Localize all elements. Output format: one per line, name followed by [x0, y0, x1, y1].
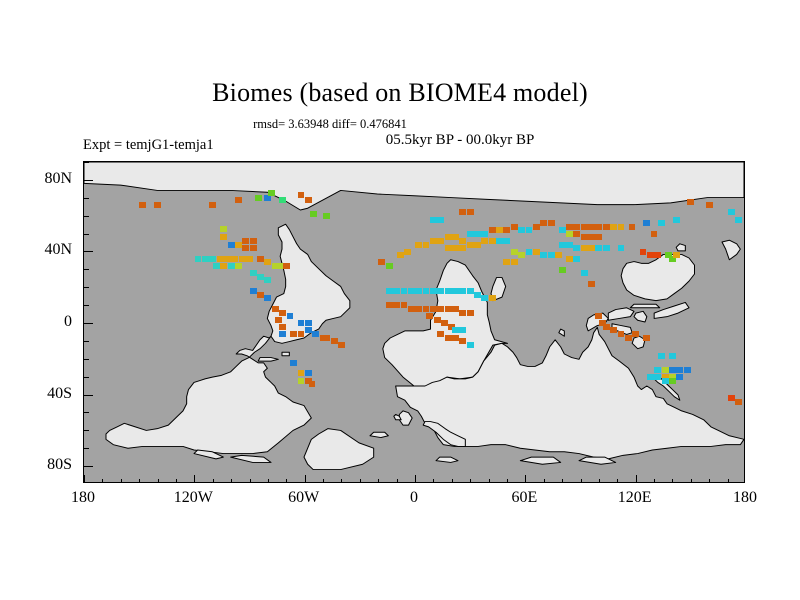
- biome-cell: [220, 263, 227, 269]
- biome-cell: [415, 288, 422, 294]
- biome-cell: [305, 320, 312, 326]
- biome-cell: [658, 353, 665, 359]
- biome-cell: [312, 331, 319, 337]
- x-tick: [544, 479, 545, 483]
- x-tick: [525, 475, 526, 483]
- y-tick: [84, 251, 93, 252]
- biome-cell: [305, 327, 312, 333]
- biome-cell: [423, 288, 430, 294]
- y-tick-label: 0: [0, 313, 72, 331]
- biome-cell: [566, 242, 573, 248]
- x-tick: [194, 475, 195, 483]
- biome-cell: [452, 288, 459, 294]
- biome-cell: [264, 277, 271, 283]
- x-tick: [709, 479, 710, 483]
- biome-cell: [397, 252, 404, 258]
- biome-cell: [298, 370, 305, 376]
- page-title: Biomes (based on BIOME4 model): [0, 78, 800, 108]
- biome-cell: [496, 227, 503, 233]
- biome-cell: [213, 263, 220, 269]
- y-tick: [84, 448, 89, 449]
- biome-cell: [467, 231, 474, 237]
- x-tick: [231, 479, 232, 483]
- period-annotation: 05.5kyr BP - 00.0kyr BP: [240, 132, 680, 149]
- biome-cell: [338, 342, 345, 348]
- biome-cell: [526, 249, 533, 255]
- x-tick: [489, 479, 490, 483]
- biome-cell: [573, 245, 580, 251]
- biome-cell: [603, 324, 610, 330]
- biome-cell: [511, 259, 518, 265]
- biome-cell: [305, 197, 312, 203]
- biome-cell: [437, 217, 444, 223]
- biome-cell: [654, 374, 661, 380]
- biome-cell: [290, 360, 297, 366]
- biome-cell: [467, 310, 474, 316]
- biome-cell: [268, 190, 275, 196]
- biome-cell: [474, 231, 481, 237]
- biome-cell: [445, 245, 452, 251]
- biome-cell: [503, 259, 510, 265]
- biome-cell: [511, 249, 518, 255]
- biome-cell: [673, 217, 680, 223]
- biome-cell: [706, 202, 713, 208]
- biome-cell: [481, 238, 488, 244]
- biome-cell: [452, 306, 459, 312]
- biome-cell: [658, 220, 665, 226]
- biome-cell: [401, 288, 408, 294]
- biome-cell: [654, 367, 661, 373]
- biome-cell: [430, 306, 437, 312]
- biome-cell: [209, 256, 216, 262]
- biome-cell: [573, 231, 580, 237]
- biome-cell: [250, 288, 257, 294]
- y-tick: [84, 412, 89, 413]
- biome-cell: [437, 238, 444, 244]
- biome-cell: [533, 249, 540, 255]
- biome-cell: [279, 331, 286, 337]
- biome-cell: [287, 313, 294, 319]
- biome-cell: [309, 381, 316, 387]
- biome-cell: [474, 242, 481, 248]
- y-tick: [84, 198, 89, 199]
- biome-cell: [566, 231, 573, 237]
- biome-cell: [220, 226, 227, 232]
- biome-cell: [235, 263, 242, 269]
- biome-cell: [423, 306, 430, 312]
- biome-cell: [445, 288, 452, 294]
- x-tick: [121, 479, 122, 483]
- x-tick-label: 60W: [288, 489, 319, 507]
- biome-cell: [481, 295, 488, 301]
- biome-cell: [220, 234, 227, 240]
- biome-cell: [588, 234, 595, 240]
- biome-cell: [625, 335, 632, 341]
- biome-cell: [489, 238, 496, 244]
- biome-cell: [310, 211, 317, 217]
- biome-cell: [408, 306, 415, 312]
- biome-cell: [235, 242, 242, 248]
- biome-cell: [378, 259, 385, 265]
- biome-cell: [228, 242, 235, 248]
- biome-cell: [581, 270, 588, 276]
- x-tick: [636, 475, 637, 483]
- experiment-annotation: Expt = temjG1-temja1: [83, 137, 214, 154]
- biome-cell: [540, 252, 547, 258]
- y-tick: [84, 162, 89, 163]
- biome-cell: [290, 331, 297, 337]
- biome-cell: [386, 263, 393, 269]
- x-tick: [415, 475, 416, 483]
- y-tick: [84, 287, 89, 288]
- biome-cell: [503, 227, 510, 233]
- biome-cell: [459, 288, 466, 294]
- x-tick-label: 180: [71, 489, 95, 507]
- biome-cell: [257, 274, 264, 280]
- biome-cell: [603, 224, 610, 230]
- x-tick: [672, 479, 673, 483]
- biome-cell: [430, 238, 437, 244]
- biome-cell: [559, 267, 566, 273]
- biome-cell: [217, 256, 224, 262]
- x-tick: [691, 479, 692, 483]
- biome-cell: [437, 288, 444, 294]
- x-tick-label: 120W: [174, 489, 213, 507]
- biome-cell: [595, 224, 602, 230]
- x-tick: [323, 479, 324, 483]
- biome-cell: [239, 256, 246, 262]
- biome-cell: [279, 324, 286, 330]
- biome-cell: [459, 245, 466, 251]
- biome-cell: [279, 310, 286, 316]
- biome-cell: [242, 245, 249, 251]
- biome-cell: [298, 192, 305, 198]
- x-tick: [378, 479, 379, 483]
- x-tick: [360, 479, 361, 483]
- biome-cell: [250, 270, 257, 276]
- x-tick: [581, 479, 582, 483]
- biome-cell: [632, 331, 639, 337]
- biome-cell: [467, 209, 474, 215]
- biome-cell: [452, 234, 459, 240]
- biome-cell: [647, 252, 654, 258]
- biome-cell: [651, 231, 658, 237]
- biome-cell: [573, 256, 580, 262]
- biome-cell: [445, 306, 452, 312]
- biome-cell: [735, 217, 742, 223]
- biome-cell: [573, 224, 580, 230]
- biome-cell: [489, 227, 496, 233]
- biome-cell: [533, 224, 540, 230]
- biome-cell: [283, 263, 290, 269]
- y-tick: [84, 269, 89, 270]
- x-tick: [452, 479, 453, 483]
- y-tick: [84, 395, 93, 396]
- x-tick: [213, 479, 214, 483]
- biome-cell: [298, 331, 305, 337]
- x-tick-label: 120E: [618, 489, 652, 507]
- biome-cell: [264, 195, 271, 201]
- biome-cell: [452, 327, 459, 333]
- biome-cell: [684, 367, 691, 373]
- biome-cell: [275, 317, 282, 323]
- biome-cell: [629, 224, 636, 230]
- biome-cell: [518, 252, 525, 258]
- biome-cell: [588, 245, 595, 251]
- x-tick: [139, 479, 140, 483]
- biome-cell: [518, 227, 525, 233]
- stats-annotation: rmsd= 3.63948 diff= 0.476841: [0, 117, 660, 132]
- biome-cell: [255, 195, 262, 201]
- biome-cell: [467, 288, 474, 294]
- x-tick: [562, 479, 563, 483]
- biome-cell: [430, 288, 437, 294]
- y-tick: [84, 180, 93, 181]
- biome-cell: [441, 320, 448, 326]
- biome-cell: [445, 234, 452, 240]
- y-tick: [84, 234, 89, 235]
- biome-cell: [669, 367, 676, 373]
- y-tick: [84, 341, 89, 342]
- biome-cell: [467, 242, 474, 248]
- biome-cell: [559, 242, 566, 248]
- biome-cell: [298, 320, 305, 326]
- x-tick-label: 0: [410, 489, 418, 507]
- x-tick-label: 60E: [511, 489, 537, 507]
- biome-cell: [511, 224, 518, 230]
- biome-cell: [728, 209, 735, 215]
- biome-cell: [445, 335, 452, 341]
- biome-cell: [386, 288, 393, 294]
- map-plot-area[interactable]: [83, 161, 745, 483]
- biome-cell: [459, 338, 466, 344]
- biome-cell: [526, 227, 533, 233]
- biome-cell: [595, 234, 602, 240]
- y-tick-label: 80S: [0, 456, 72, 474]
- biome-cell: [298, 378, 305, 384]
- biome-cell: [588, 281, 595, 287]
- biome-cell: [555, 252, 562, 258]
- x-tick: [286, 479, 287, 483]
- biome-cell: [459, 209, 466, 215]
- biome-cell: [434, 317, 441, 323]
- biome-cell: [676, 374, 683, 380]
- biome-cell: [647, 374, 654, 380]
- biome-cell: [481, 231, 488, 237]
- x-tick: [728, 479, 729, 483]
- biome-cell: [687, 199, 694, 205]
- biome-cell: [250, 245, 257, 251]
- y-tick: [84, 377, 89, 378]
- y-tick: [84, 216, 89, 217]
- biome-cell: [673, 252, 680, 258]
- biome-cell: [588, 224, 595, 230]
- biome-cell: [618, 224, 625, 230]
- x-tick-label: 180: [733, 489, 757, 507]
- biome-cell: [323, 213, 330, 219]
- biome-cell: [209, 202, 216, 208]
- x-tick: [470, 479, 471, 483]
- x-tick: [176, 479, 177, 483]
- x-tick: [305, 475, 306, 483]
- biome-cell: [386, 302, 393, 308]
- biome-cell: [264, 259, 271, 265]
- biome-cell: [618, 331, 625, 337]
- y-tick-label: 40N: [0, 241, 72, 259]
- biome-cell: [459, 327, 466, 333]
- biome-cell: [459, 310, 466, 316]
- biome-cell: [595, 313, 602, 319]
- biome-cell: [474, 292, 481, 298]
- y-tick-label: 40S: [0, 385, 72, 403]
- biome-cell: [559, 227, 566, 233]
- biome-cell: [195, 256, 202, 262]
- biome-cell: [231, 256, 238, 262]
- x-tick: [250, 479, 251, 483]
- biome-cell: [408, 288, 415, 294]
- biome-cell: [404, 249, 411, 255]
- biome-cell: [566, 224, 573, 230]
- y-tick: [84, 323, 93, 324]
- biome-cell: [467, 342, 474, 348]
- biome-cell: [224, 256, 231, 262]
- biome-cell: [272, 263, 279, 269]
- biome-cell: [437, 306, 444, 312]
- biome-cell: [489, 295, 496, 301]
- x-tick: [397, 479, 398, 483]
- biome-cell: [603, 245, 610, 251]
- biome-cell: [566, 256, 573, 262]
- biome-cell: [426, 313, 433, 319]
- biome-cell: [139, 202, 146, 208]
- biome-cell: [548, 220, 555, 226]
- y-tick: [84, 466, 93, 467]
- x-tick: [158, 479, 159, 483]
- figure-canvas: Biomes (based on BIOME4 model) rmsd= 3.6…: [0, 0, 800, 600]
- biome-cell: [669, 353, 676, 359]
- biome-cell: [595, 245, 602, 251]
- biome-cell: [264, 295, 271, 301]
- biome-cell: [548, 252, 555, 258]
- x-tick: [268, 479, 269, 483]
- y-tick: [84, 305, 89, 306]
- biome-cell: [581, 245, 588, 251]
- biome-cell: [640, 249, 647, 255]
- biome-cell: [437, 331, 444, 337]
- biome-cell: [279, 197, 286, 203]
- x-tick: [617, 479, 618, 483]
- y-tick-label: 80N: [0, 170, 72, 188]
- biome-cell: [257, 292, 264, 298]
- biome-cell: [610, 224, 617, 230]
- y-tick: [84, 430, 89, 431]
- biome-cell: [202, 256, 209, 262]
- biome-cell: [415, 242, 422, 248]
- y-tick: [84, 359, 89, 360]
- biome-cell: [423, 242, 430, 248]
- x-tick: [84, 475, 85, 483]
- biome-cell: [581, 234, 588, 240]
- biome-cell: [540, 220, 547, 226]
- biome-cell: [496, 238, 503, 244]
- x-tick: [599, 479, 600, 483]
- biome-cell: [503, 238, 510, 244]
- biome-cell: [643, 220, 650, 226]
- biome-cell: [728, 395, 735, 401]
- x-tick: [102, 479, 103, 483]
- biome-difference-cells: [84, 162, 744, 482]
- biome-cell: [610, 327, 617, 333]
- biome-cell: [662, 378, 669, 384]
- biome-cell: [662, 367, 669, 373]
- x-tick: [654, 479, 655, 483]
- biome-cell: [154, 202, 161, 208]
- biome-cell: [242, 238, 249, 244]
- biome-cell: [452, 245, 459, 251]
- biome-cell: [272, 306, 279, 312]
- biome-cell: [228, 263, 235, 269]
- x-tick: [433, 479, 434, 483]
- biome-cell: [643, 335, 650, 341]
- biome-cell: [676, 367, 683, 373]
- biome-cell: [250, 238, 257, 244]
- map-stage: [84, 162, 744, 482]
- biome-cell: [735, 399, 742, 405]
- x-tick: [507, 479, 508, 483]
- biome-cell: [415, 306, 422, 312]
- biome-cell: [430, 217, 437, 223]
- biome-cell: [305, 370, 312, 376]
- biome-cell: [452, 335, 459, 341]
- biome-cell: [235, 197, 242, 203]
- biome-cell: [618, 245, 625, 251]
- biome-cell: [393, 302, 400, 308]
- biome-cell: [323, 335, 330, 341]
- biome-cell: [581, 224, 588, 230]
- biome-cell: [654, 252, 661, 258]
- biome-cell: [331, 338, 338, 344]
- biome-cell: [401, 302, 408, 308]
- biome-cell: [459, 238, 466, 244]
- biome-cell: [393, 288, 400, 294]
- biome-cell: [246, 256, 253, 262]
- biome-cell: [669, 378, 676, 384]
- x-tick: [341, 479, 342, 483]
- biome-cell: [257, 256, 264, 262]
